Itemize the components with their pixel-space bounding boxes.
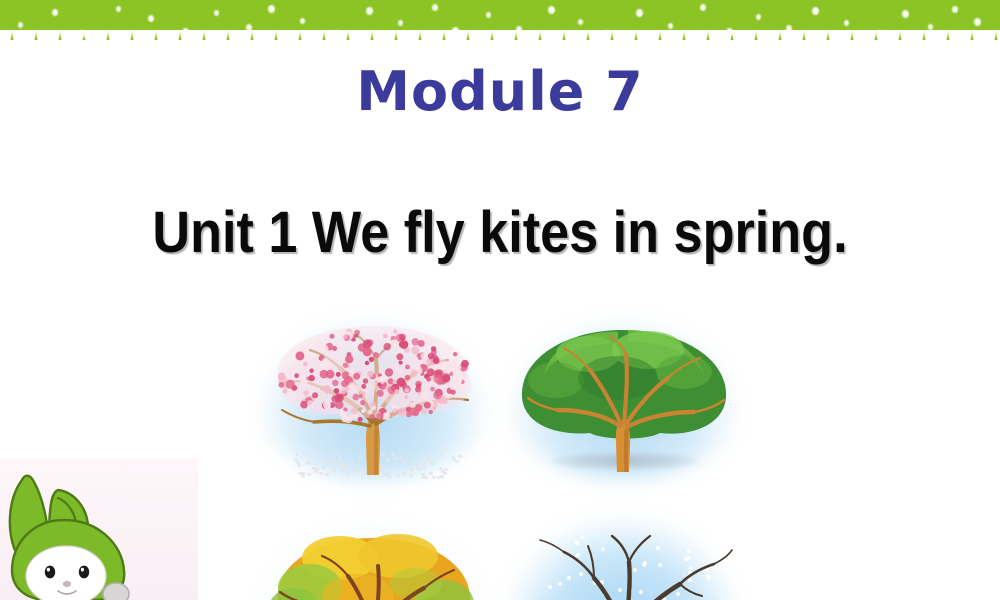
banner-dot bbox=[974, 18, 981, 26]
banner-scallop bbox=[588, 30, 612, 50]
banner-dot bbox=[268, 5, 275, 13]
season-cell-spring bbox=[248, 300, 498, 500]
banner-scallop bbox=[924, 30, 948, 50]
banner-scallop bbox=[84, 30, 108, 50]
summer-green-tree-icon bbox=[498, 300, 748, 500]
banner-dot bbox=[486, 12, 491, 18]
banner-dot bbox=[214, 10, 219, 16]
banner-dot bbox=[300, 18, 305, 24]
season-cell-summer bbox=[498, 300, 748, 500]
slide-canvas: Module 7 Unit 1 We fly kites in spring. bbox=[0, 0, 1000, 600]
green-polka-dot-banner bbox=[0, 0, 1000, 48]
banner-dot bbox=[844, 20, 849, 26]
banner-scallop bbox=[372, 30, 396, 50]
banner-scallop bbox=[180, 30, 204, 50]
banner-dot bbox=[578, 19, 583, 25]
season-cell-autumn bbox=[248, 500, 498, 600]
banner-dot bbox=[52, 9, 58, 16]
banner-scallop bbox=[876, 30, 900, 50]
banner-scallop bbox=[324, 30, 348, 50]
banner-scallop bbox=[900, 30, 924, 50]
banner-scallop bbox=[0, 30, 12, 50]
banner-dot bbox=[18, 22, 23, 28]
banner-scallop bbox=[108, 30, 132, 50]
banner-scallop bbox=[276, 30, 300, 50]
bunny-character bbox=[0, 462, 142, 600]
banner-scallop bbox=[732, 30, 756, 50]
banner-dot bbox=[116, 6, 121, 12]
banner-scallop bbox=[444, 30, 468, 50]
banner-scallop bbox=[972, 30, 996, 50]
banner-scallop bbox=[852, 30, 876, 50]
banner-dot bbox=[902, 10, 909, 18]
banner-dot bbox=[952, 6, 958, 13]
autumn-golden-tree-icon bbox=[248, 500, 498, 600]
four-seasons-tree-grid bbox=[248, 300, 748, 600]
banner-dot bbox=[668, 23, 673, 29]
season-cell-winter bbox=[498, 500, 748, 600]
banner-scalloped-edge bbox=[0, 30, 1000, 50]
banner-scallop bbox=[492, 30, 516, 50]
banner-scallop bbox=[204, 30, 228, 50]
banner-scallop bbox=[948, 30, 972, 50]
winter-bare-tree-icon bbox=[498, 500, 748, 600]
spring-blossom-tree-icon bbox=[248, 300, 498, 500]
banner-dot bbox=[148, 15, 154, 22]
banner-scallop bbox=[684, 30, 708, 50]
unit-title: Unit 1 We fly kites in spring. bbox=[50, 203, 950, 264]
banner-dot bbox=[756, 14, 761, 20]
banner-scallop bbox=[420, 30, 444, 50]
banner-scallop bbox=[660, 30, 684, 50]
banner-scallop bbox=[756, 30, 780, 50]
banner-scallop bbox=[252, 30, 276, 50]
banner-dot bbox=[700, 4, 706, 11]
banner-scallop bbox=[36, 30, 60, 50]
banner-scallop bbox=[804, 30, 828, 50]
banner-scallop bbox=[468, 30, 492, 50]
banner-scallop bbox=[612, 30, 636, 50]
banner-scallop bbox=[996, 30, 1000, 50]
banner-scallop bbox=[828, 30, 852, 50]
banner-scallop bbox=[540, 30, 564, 50]
banner-scallop bbox=[780, 30, 804, 50]
banner-scallop bbox=[348, 30, 372, 50]
banner-scallop bbox=[156, 30, 180, 50]
banner-scallop bbox=[300, 30, 324, 50]
banner-scallop bbox=[228, 30, 252, 50]
banner-scallop bbox=[12, 30, 36, 50]
module-title: Module 7 bbox=[0, 64, 1000, 121]
banner-scallop bbox=[132, 30, 156, 50]
banner-dot bbox=[398, 20, 403, 26]
banner-dot bbox=[366, 7, 373, 15]
banner-dot bbox=[548, 6, 555, 14]
banner-dot bbox=[636, 9, 643, 17]
banner-scallop bbox=[516, 30, 540, 50]
banner-scallop bbox=[564, 30, 588, 50]
banner-scallop bbox=[396, 30, 420, 50]
banner-scallop bbox=[60, 30, 84, 50]
banner-dot bbox=[812, 7, 819, 15]
banner-scallop bbox=[636, 30, 660, 50]
banner-scallop bbox=[708, 30, 732, 50]
banner-dot bbox=[432, 4, 438, 11]
